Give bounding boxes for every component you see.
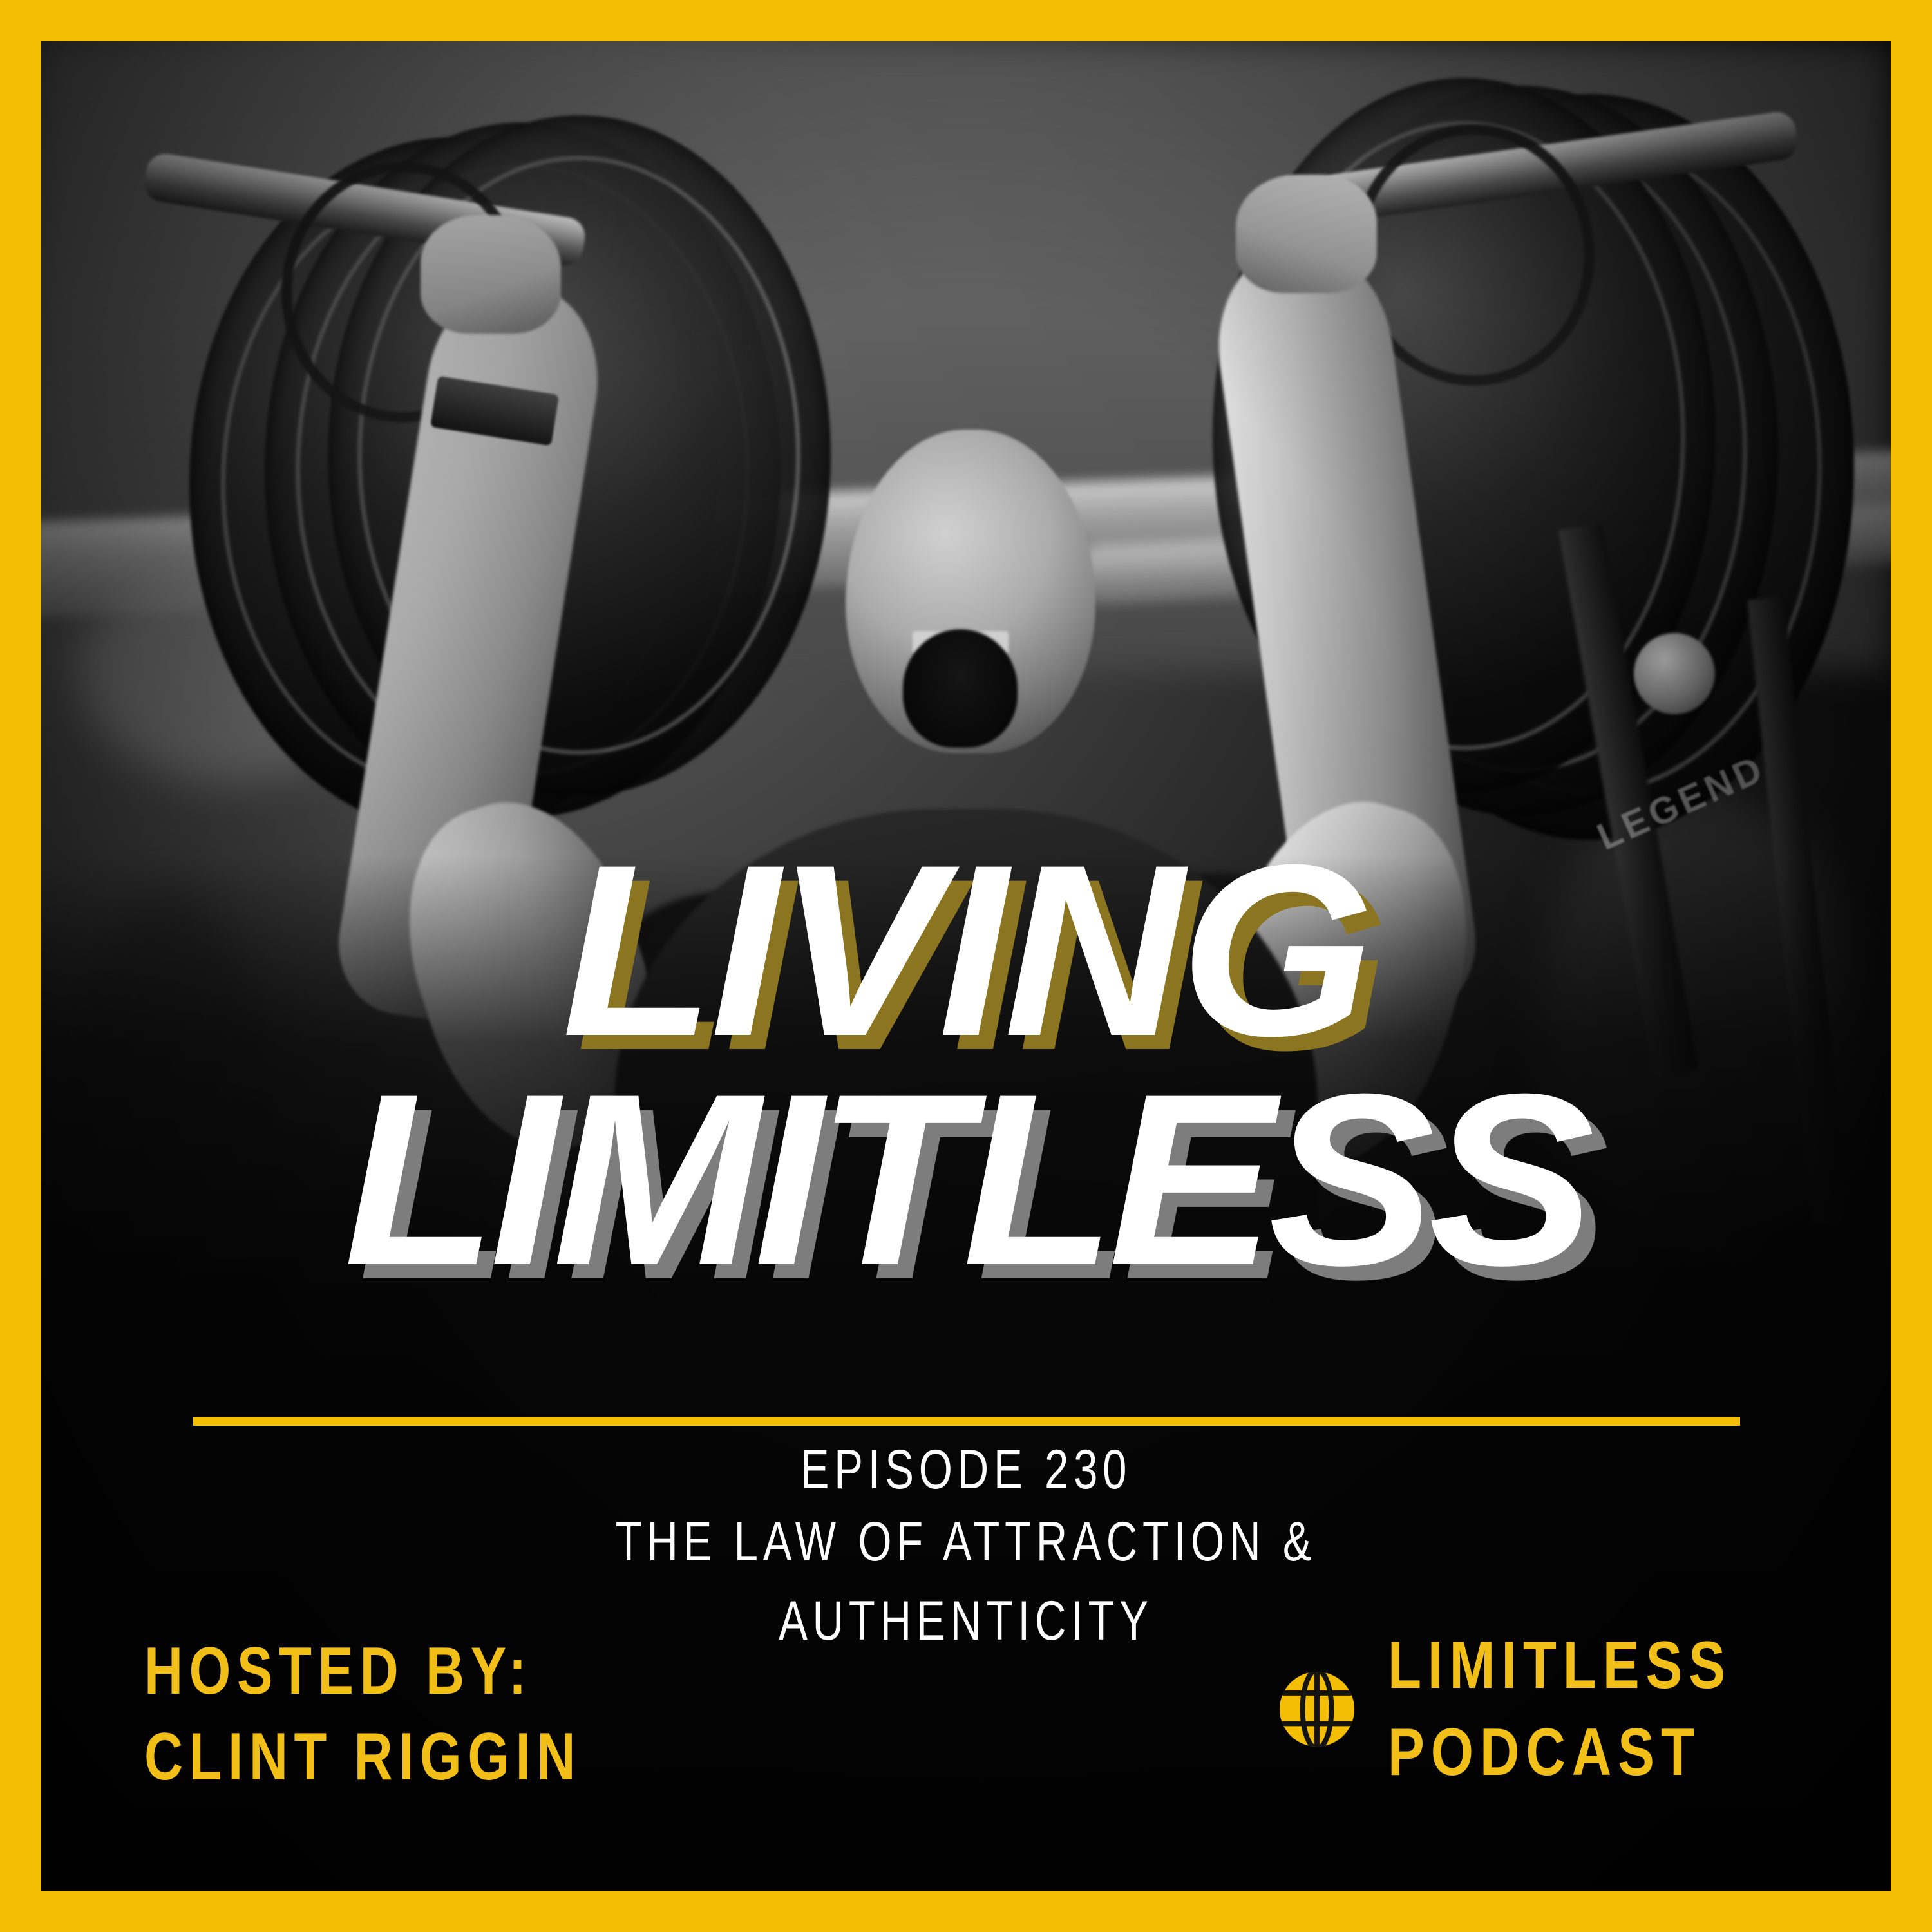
host-label: HOSTED BY: [144,1629,582,1714]
frame-border-top [0,0,1932,41]
host-credit: HOSTED BY: CLINT RIGGIN [144,1629,691,1800]
show-title: LIVING LIMITLESS [41,843,1891,1288]
episode-title-line-1: THE LAW OF ATTRACTION & [245,1502,1687,1581]
brand-line-1: LIMITLESS [1388,1622,1732,1709]
frame-border-bottom [0,1891,1932,1932]
host-name: CLINT RIGGIN [144,1714,582,1800]
podcast-brand-lockup: LIMITLESS PODCAST [1274,1622,1807,1796]
episode-number: EPISODE 230 [245,1437,1687,1502]
frame-border-right [1891,0,1932,1932]
brand-line-2: PODCAST [1388,1709,1732,1796]
globe-icon [1274,1667,1359,1752]
show-title-line-1: LIVING [23,843,1909,1058]
frame-border-left [0,0,41,1932]
show-title-line-2: LIMITLESS [23,1072,1909,1287]
podcast-cover-art: LEGEND LIVING LIMITLESS [0,0,1932,1932]
title-divider-rule [193,1417,1740,1426]
podcast-brand-text: LIMITLESS PODCAST [1388,1622,1807,1796]
text-overlay: LIVING LIMITLESS EPISODE 230 THE LAW OF … [41,41,1891,1891]
